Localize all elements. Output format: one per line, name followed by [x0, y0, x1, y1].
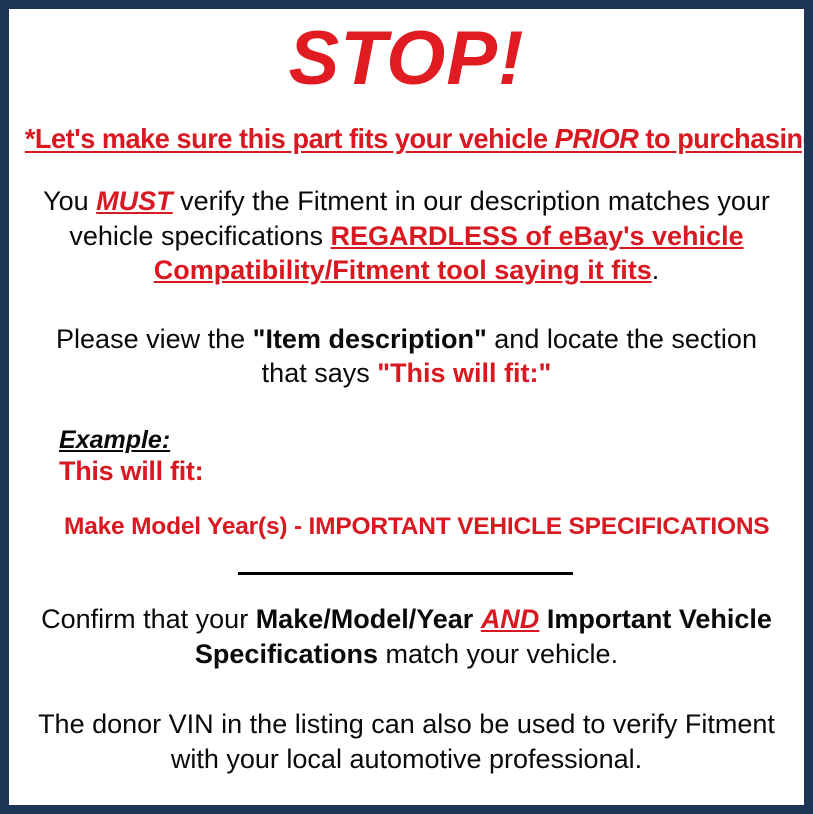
paragraph3-emphasis-and: AND [481, 604, 540, 634]
example-fit-heading: This will fit: [59, 457, 794, 485]
paragraph3-part3 [539, 604, 547, 634]
fitment-subtitle: *Let's make sure this part fits your veh… [25, 124, 788, 154]
section-divider [238, 572, 573, 575]
paragraph3-emphasis-make-model-year: Make/Model/Year [256, 604, 474, 634]
closing-thank-you: Thank you for confirming Fitment! [19, 802, 794, 814]
paragraph3-part1: Confirm that your [41, 604, 256, 634]
confirm-paragraph: Confirm that your Make/Model/Year AND Im… [19, 602, 794, 671]
paragraph1-emphasis-must: MUST [96, 186, 173, 216]
example-block: Example: This will fit: Make Model Year(… [19, 427, 794, 539]
paragraph2-part1: Please view the [56, 324, 253, 354]
subtitle-tail: to purchasing* [638, 123, 813, 154]
verify-fitment-paragraph: You MUST verify the Fitment in our descr… [19, 184, 794, 288]
paragraph2-emphasis-item-description: "Item description" [253, 324, 487, 354]
subtitle-emphasis-prior: PRIOR [555, 123, 639, 154]
donor-vin-paragraph: The donor VIN in the listing can also be… [19, 707, 794, 776]
paragraph3-part4: match your vehicle. [378, 639, 618, 669]
item-description-paragraph: Please view the "Item description" and l… [19, 322, 794, 391]
section-divider-wrap [19, 571, 794, 575]
notice-inner-panel: STOP! *Let's make sure this part fits yo… [9, 9, 804, 805]
fitment-notice-card: STOP! *Let's make sure this part fits yo… [0, 0, 813, 814]
example-spec-line: Make Model Year(s) - IMPORTANT VEHICLE S… [64, 514, 794, 540]
paragraph1-part3: . [652, 255, 660, 285]
paragraph1-part1: You [43, 186, 96, 216]
stop-headline: STOP! [19, 21, 794, 97]
subtitle-lead: *Let's make sure this part fits your veh… [25, 123, 555, 154]
example-label-row: Example: [59, 427, 794, 453]
example-label: Example: [59, 427, 170, 453]
paragraph3-part2 [473, 604, 481, 634]
paragraph2-emphasis-this-will-fit: "This will fit:" [377, 358, 551, 388]
